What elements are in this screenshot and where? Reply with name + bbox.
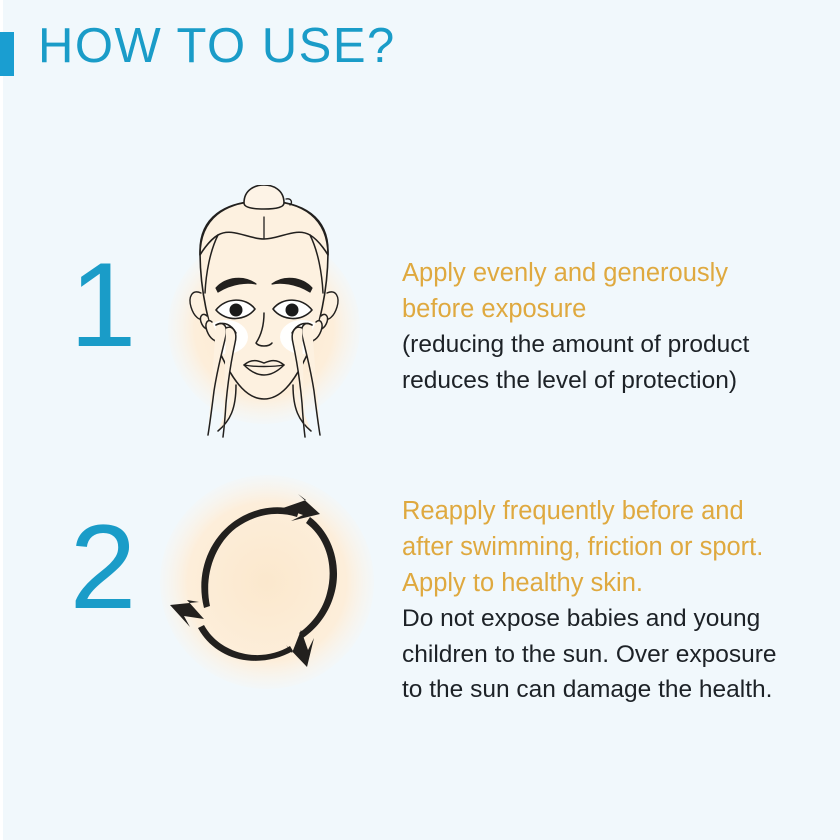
step-1-number: 1 [38, 245, 168, 365]
step-1-headline-line-1: Apply evenly and generously [402, 255, 832, 291]
face-illustration [190, 185, 338, 437]
step-1-headline-line-2: before exposure [402, 291, 832, 327]
step-2-headline-line-3: Apply to healthy skin. [402, 565, 840, 601]
step-1-body-line-2: reduces the level of protection) [402, 363, 832, 399]
left-edge-sliver [0, 0, 3, 840]
circular-reapply-arrows-icon [150, 465, 385, 700]
step-2-headline-line-2: after swimming, friction or sport. [402, 529, 840, 565]
how-to-use-poster: HOW TO USE? 1 [0, 0, 840, 840]
step-2-text: Reapply frequently before and after swim… [402, 493, 840, 708]
header-accent-bar [0, 32, 14, 76]
step-2-number: 2 [38, 507, 168, 627]
woman-applying-cream-to-face-icon [160, 185, 370, 450]
step-2-body-line-3: to the sun can damage the health. [402, 672, 840, 708]
step-2-headline-line-1: Reapply frequently before and [402, 493, 840, 529]
step-2-figure [150, 465, 385, 700]
page-title: HOW TO USE? [38, 22, 396, 71]
step-1-body-line-1: (reducing the amount of product [402, 327, 832, 363]
step-1-text: Apply evenly and generously before expos… [402, 255, 832, 398]
step-2-body-line-1: Do not expose babies and young [402, 601, 840, 637]
right-pupil [286, 304, 299, 317]
hair-bun [244, 185, 284, 209]
step-2-body-line-2: children to the sun. Over exposure [402, 637, 840, 673]
step-1-figure [160, 185, 370, 450]
left-pupil [230, 304, 243, 317]
